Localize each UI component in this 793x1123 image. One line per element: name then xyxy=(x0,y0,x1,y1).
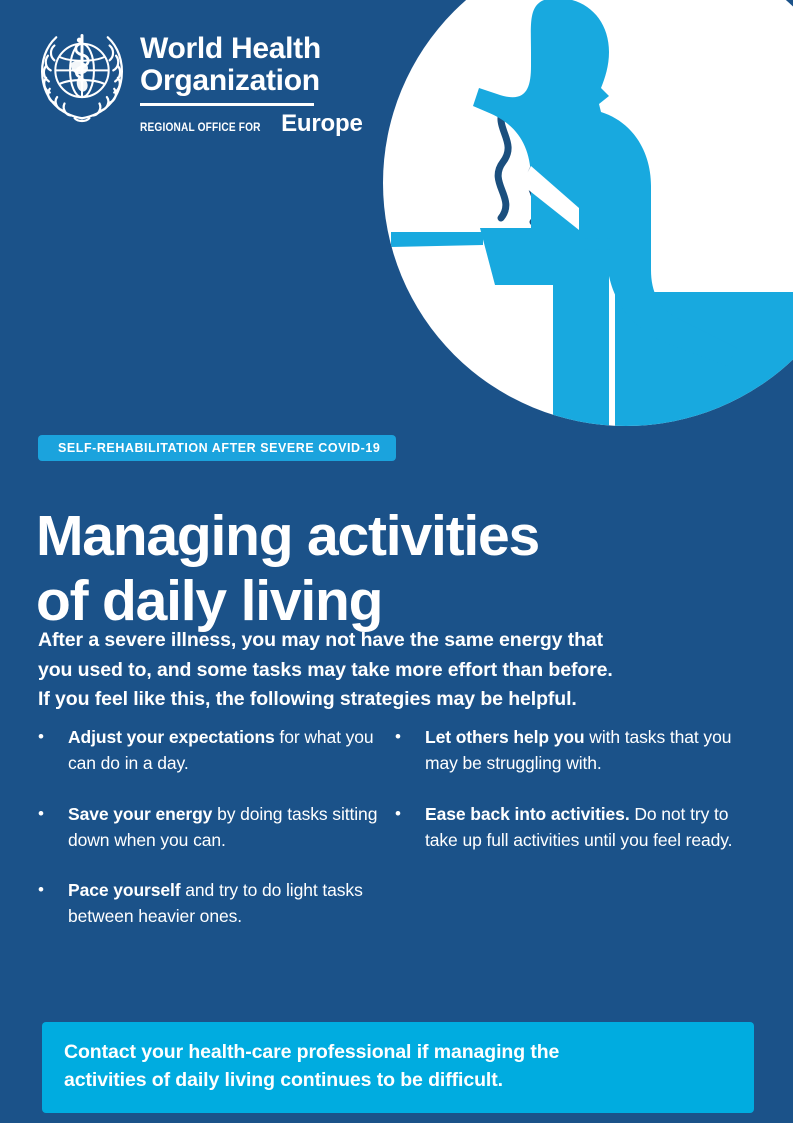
bullet-marker-icon: • xyxy=(32,801,68,854)
page-title: Managing activities of daily living xyxy=(36,504,656,634)
regional-office-line: REGIONAL OFFICE FOR Europe xyxy=(140,110,363,138)
callout-line-2: activities of daily living continues to … xyxy=(64,1066,732,1094)
regional-office-prefix: REGIONAL OFFICE FOR xyxy=(140,122,261,134)
bullet-text: Ease back into activities. Do not try to… xyxy=(425,801,744,854)
bullet-lead: Let others help you xyxy=(425,727,585,747)
pan-handle xyxy=(391,232,483,247)
who-name-line1: World Health xyxy=(140,33,363,65)
footer-callout: Contact your health-care professional if… xyxy=(42,1022,754,1113)
intro-line-3: If you feel like this, the following str… xyxy=(38,685,686,715)
bullet-lead: Pace yourself xyxy=(68,880,181,900)
headline-line-2: of daily living xyxy=(36,569,656,634)
bullet-text: Pace yourself and try to do light tasks … xyxy=(68,877,387,930)
bullet-marker-icon: • xyxy=(32,877,68,930)
list-item: • Adjust your expectations for what you … xyxy=(32,724,387,777)
bullet-marker-icon: • xyxy=(389,724,425,777)
bullet-lead: Adjust your expectations xyxy=(68,727,275,747)
callout-line-1: Contact your health-care professional if… xyxy=(64,1038,732,1066)
poster-page: World Health Organization REGIONAL OFFIC… xyxy=(0,0,793,1123)
bullet-lead: Ease back into activities. xyxy=(425,804,630,824)
bullet-text: Save your energy by doing tasks sitting … xyxy=(68,801,387,854)
bullet-marker-icon: • xyxy=(32,724,68,777)
regional-office-name: Europe xyxy=(281,110,362,138)
intro-line-1: After a severe illness, you may not have… xyxy=(38,626,686,656)
list-item: • Let others help you with tasks that yo… xyxy=(389,724,744,777)
bullet-column-left: • Adjust your expectations for what you … xyxy=(32,724,387,954)
list-item: • Save your energy by doing tasks sittin… xyxy=(32,801,387,854)
bullet-text: Adjust your expectations for what you ca… xyxy=(68,724,387,777)
headline-line-1: Managing activities xyxy=(36,504,656,569)
bullet-text: Let others help you with tasks that you … xyxy=(425,724,744,777)
person-cooking-illustration xyxy=(383,0,793,426)
who-emblem xyxy=(36,26,128,124)
intro-paragraph: After a severe illness, you may not have… xyxy=(38,626,686,715)
who-name-line2: Organization xyxy=(140,65,363,97)
logo-divider-rule xyxy=(140,103,314,106)
who-logo: World Health Organization REGIONAL OFFIC… xyxy=(36,26,363,138)
strategies-list: • Adjust your expectations for what you … xyxy=(32,724,742,954)
list-item: • Ease back into activities. Do not try … xyxy=(389,801,744,854)
series-badge: SELF-REHABILITATION AFTER SEVERE COVID-1… xyxy=(38,435,396,461)
asclepius-rod xyxy=(76,35,88,81)
list-item: • Pace yourself and try to do light task… xyxy=(32,877,387,930)
intro-line-2: you used to, and some tasks may take mor… xyxy=(38,656,686,686)
bullet-marker-icon: • xyxy=(389,801,425,854)
bullet-column-right: • Let others help you with tasks that yo… xyxy=(387,724,744,954)
bullet-lead: Save your energy xyxy=(68,804,212,824)
